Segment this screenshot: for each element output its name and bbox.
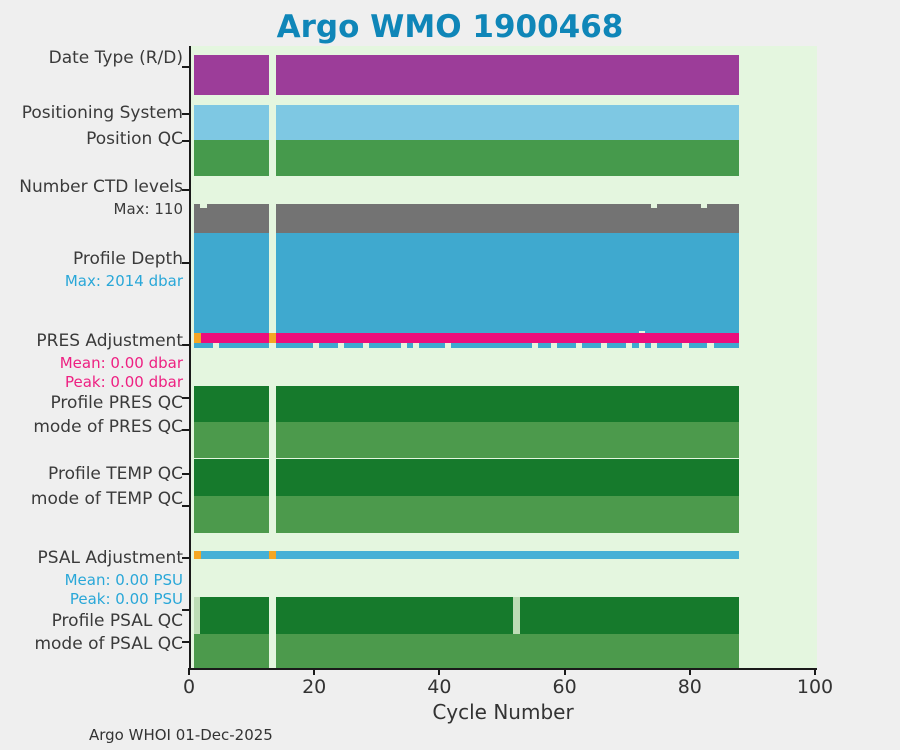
x-tick-100 — [814, 668, 816, 675]
row-label-psal_adjustment: PSAL Adjustment — [38, 548, 183, 568]
adjustment-marker-pres_adjustment-1 — [269, 333, 277, 343]
series-profile_psal_qc-seg0 — [194, 597, 269, 634]
row-label-mode_psal_qc: mode of PSAL QC — [34, 634, 183, 654]
qc-light-cell-profile_psal_qc-0 — [194, 597, 200, 634]
row-sublabel-psal_adjustment-1: Peak: 0.00 PSU — [70, 589, 183, 609]
row-sublabel-pres_adjustment-0: Mean: 0.00 dbar — [60, 353, 183, 373]
series-mode_psal_qc-seg0 — [194, 634, 269, 668]
x-tick-label-60: 60 — [525, 676, 605, 698]
x-tick-label-40: 40 — [399, 676, 479, 698]
x-tick-label-20: 20 — [274, 676, 354, 698]
row-label-positioning_system: Positioning System — [22, 103, 183, 123]
page-title: Argo WMO 1900468 — [0, 9, 900, 45]
row-label-profile_temp_qc: Profile TEMP QC — [48, 464, 183, 484]
x-tick-20 — [313, 668, 315, 675]
figure-footer: Argo WHOI 01-Dec-2025 — [89, 726, 273, 744]
series-psal_adjustment-seg1 — [276, 551, 739, 559]
y-tick-12 — [182, 641, 190, 643]
series-profile_pres_qc-seg0 — [194, 386, 269, 422]
series-profile_psal_qc-seg1 — [276, 597, 739, 634]
x-tick-40 — [438, 668, 440, 675]
ctd-dip-0 — [200, 204, 206, 208]
series-position_qc-seg1 — [276, 140, 739, 176]
bars-layer — [191, 46, 817, 668]
row-label-position_qc: Position QC — [86, 129, 183, 149]
y-tick-11 — [182, 609, 190, 611]
row-sublabel-pres_adjustment-1: Peak: 0.00 dbar — [65, 372, 183, 392]
series-positioning_system-seg0 — [194, 105, 269, 140]
y-tick-1 — [182, 113, 190, 115]
series-date_type-seg1 — [276, 55, 739, 95]
x-tick-80 — [689, 668, 691, 675]
series-mode_pres_qc-seg0 — [194, 422, 269, 458]
row-label-mode_temp_qc: mode of TEMP QC — [31, 489, 183, 509]
ctd-dip-2 — [701, 204, 707, 208]
row-label-ctd_levels: Number CTD levels — [19, 177, 183, 197]
series-profile_depth-seg1 — [276, 233, 739, 348]
row-label-profile_pres_qc: Profile PRES QC — [50, 393, 183, 413]
adjustment-marker-psal_adjustment-1 — [269, 551, 277, 559]
row-sublabel-profile_depth-0: Max: 2014 dbar — [65, 271, 183, 291]
series-mode_pres_qc-seg1 — [276, 422, 739, 458]
x-tick-label-80: 80 — [650, 676, 730, 698]
y-tick-2 — [182, 140, 190, 142]
x-tick-label-0: 0 — [149, 676, 229, 698]
x-tick-0 — [188, 668, 190, 675]
y-tick-3 — [182, 189, 190, 191]
x-axis-title: Cycle Number — [189, 700, 817, 724]
series-profile_temp_qc-seg0 — [194, 459, 269, 496]
row-label-profile_psal_qc: Profile PSAL QC — [52, 611, 183, 631]
row-label-pres_adjustment: PRES Adjustment — [36, 331, 183, 351]
series-profile_temp_qc-seg1 — [276, 459, 739, 496]
x-axis-line — [189, 668, 817, 670]
y-tick-0 — [182, 66, 190, 68]
y-tick-9 — [182, 505, 190, 507]
x-tick-60 — [564, 668, 566, 675]
series-profile_depth-seg0 — [194, 233, 269, 348]
adjustment-marker-psal_adjustment-0 — [194, 551, 202, 559]
row-label-mode_pres_qc: mode of PRES QC — [33, 417, 183, 437]
y-tick-10 — [182, 557, 190, 559]
series-position_qc-seg0 — [194, 140, 269, 176]
series-mode_temp_qc-seg0 — [194, 496, 269, 533]
series-mode_temp_qc-seg1 — [276, 496, 739, 533]
row-label-date_type: Date Type (R/D) — [49, 48, 183, 68]
series-psal_adjustment-seg0 — [194, 551, 269, 559]
y-tick-7 — [182, 429, 190, 431]
y-tick-6 — [182, 397, 190, 399]
argo-figure: Argo WMO 1900468 020406080100 Date Type … — [0, 0, 900, 750]
ctd-dip-1 — [651, 204, 657, 208]
row-label-profile_depth: Profile Depth — [73, 249, 183, 269]
series-positioning_system-seg1 — [276, 105, 739, 140]
adjustment-marker-pres_adjustment-0 — [194, 333, 202, 343]
y-tick-8 — [182, 473, 190, 475]
series-pres_adjustment-seg0 — [194, 333, 269, 343]
series-mode_psal_qc-seg1 — [276, 634, 739, 668]
qc-light-cell-profile_psal_qc-1 — [513, 597, 519, 634]
row-sublabel-psal_adjustment-0: Mean: 0.00 PSU — [65, 570, 183, 590]
x-tick-label-100: 100 — [775, 676, 855, 698]
series-profile_pres_qc-seg1 — [276, 386, 739, 422]
y-tick-5 — [182, 344, 190, 346]
series-date_type-seg0 — [194, 55, 269, 95]
y-tick-4 — [182, 262, 190, 264]
series-pres_adjustment-seg1 — [276, 333, 739, 343]
plot-area — [189, 46, 817, 668]
row-sublabel-ctd_levels-0: Max: 110 — [114, 199, 183, 219]
